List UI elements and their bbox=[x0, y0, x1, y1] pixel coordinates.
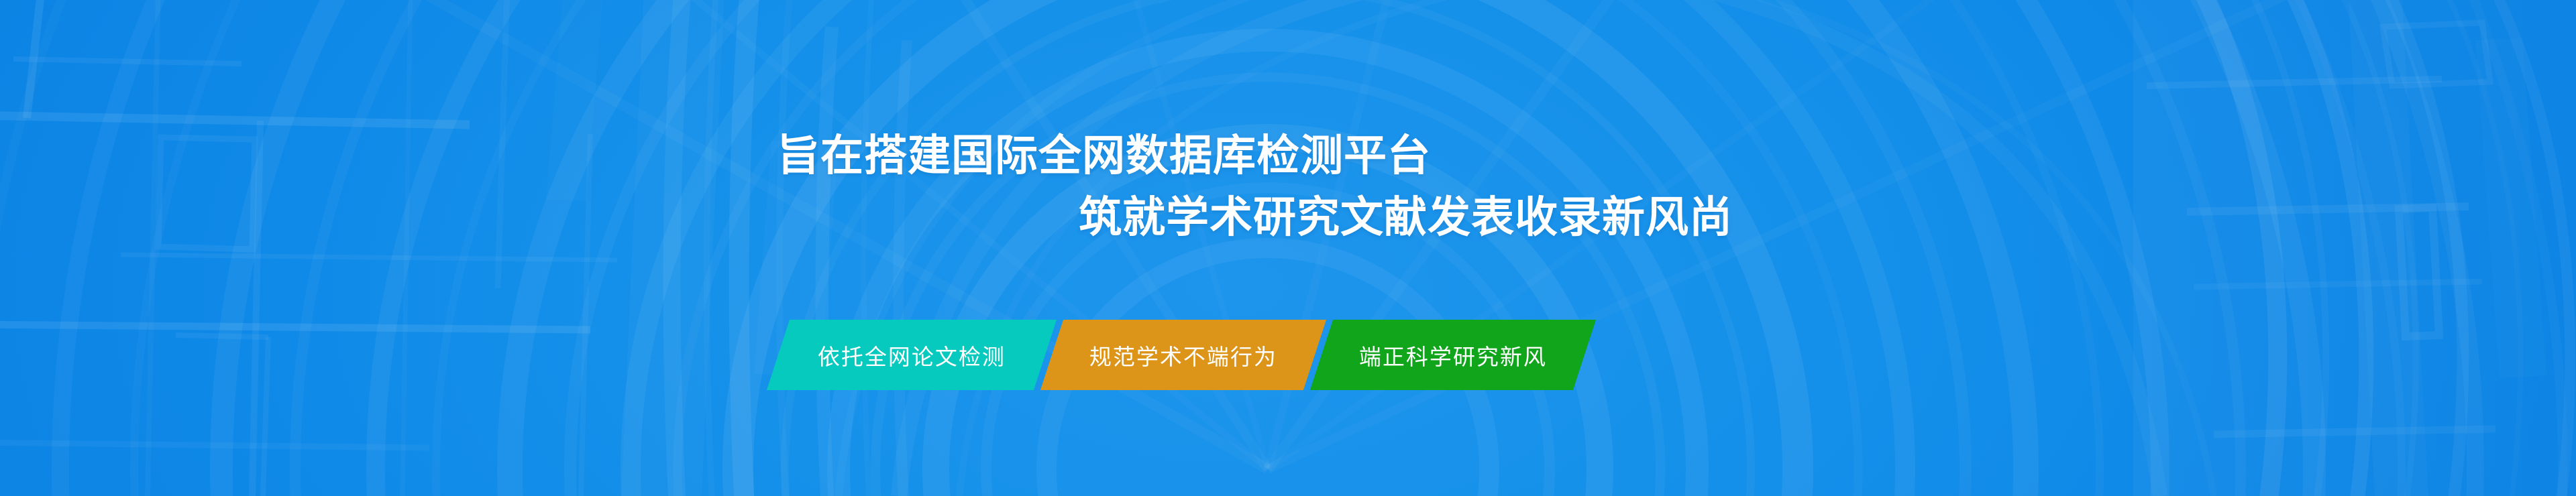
feature-tag-research-ethos[interactable]: 端正科学研究新风 bbox=[1310, 320, 1596, 390]
feature-tag-misconduct-label: 规范学术不端行为 bbox=[1089, 339, 1277, 371]
headline-line-1: 旨在搭建国际全网数据库检测平台 bbox=[777, 125, 2576, 186]
feature-tag-detection[interactable]: 依托全网论文检测 bbox=[767, 320, 1057, 390]
headline-block: 旨在搭建国际全网数据库检测平台 筑就学术研究文献发表收录新风尚 bbox=[0, 125, 2576, 248]
headline-line-2: 筑就学术研究文献发表收录新风尚 bbox=[1079, 186, 2576, 248]
feature-tag-misconduct[interactable]: 规范学术不端行为 bbox=[1040, 320, 1326, 390]
promo-banner: 旨在搭建国际全网数据库检测平台 筑就学术研究文献发表收录新风尚 依托全网论文检测… bbox=[0, 0, 2576, 496]
banner-content: 旨在搭建国际全网数据库检测平台 筑就学术研究文献发表收录新风尚 依托全网论文检测… bbox=[0, 0, 2576, 496]
feature-tag-research-ethos-label: 端正科学研究新风 bbox=[1359, 339, 1547, 371]
feature-tag-strip: 依托全网论文检测 规范学术不端行为 端正科学研究新风 bbox=[778, 320, 1585, 390]
feature-tag-detection-label: 依托全网论文检测 bbox=[818, 339, 1006, 371]
